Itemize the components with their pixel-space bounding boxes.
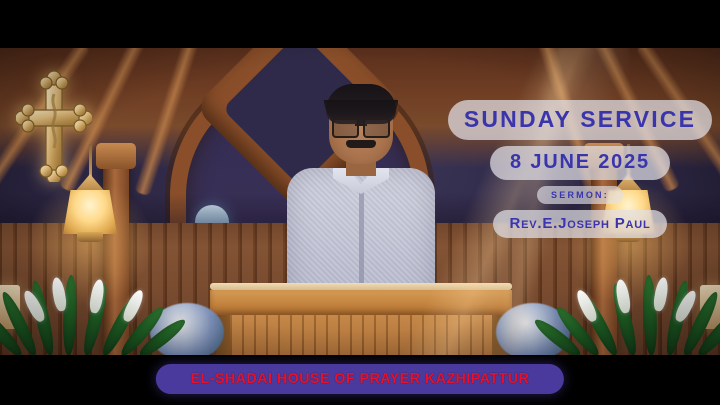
glasses-lens — [332, 118, 359, 138]
peace-lily-plant — [560, 269, 710, 355]
pulpit — [222, 283, 500, 355]
lamp-cord — [89, 144, 92, 178]
letterbox-top — [0, 0, 720, 48]
lamp-base — [77, 232, 103, 242]
service-date: 8 JUNE 2025 — [490, 146, 670, 180]
glasses-icon — [332, 118, 390, 134]
pulpit-rail — [210, 290, 512, 315]
pulpit-body — [230, 315, 492, 355]
video-frame: SUNDAY SERVICE 8 JUNE 2025 SERMON: Rev.E… — [0, 0, 720, 405]
service-title: SUNDAY SERVICE — [448, 100, 712, 140]
pilaster-capital — [96, 143, 136, 169]
letterbox-bottom: EL-SHADAI HOUSE OF PRAYER KAZHIPATTUR — [0, 355, 720, 405]
peace-lily-plant — [10, 269, 160, 355]
glasses-lens — [363, 118, 390, 138]
video-content: SUNDAY SERVICE 8 JUNE 2025 SERMON: Rev.E… — [0, 48, 720, 355]
preacher-mustache — [346, 140, 376, 148]
lily-flower — [652, 276, 670, 312]
church-name-banner: EL-SHADAI HOUSE OF PRAYER KAZHIPATTUR — [156, 364, 564, 394]
pulpit-top — [210, 283, 512, 290]
sermon-label: SERMON: — [537, 186, 623, 204]
church-name-text: EL-SHADAI HOUSE OF PRAYER KAZHIPATTUR — [191, 370, 530, 387]
lily-flower — [50, 276, 68, 312]
lamp-body — [63, 190, 117, 234]
service-info-overlay: SUNDAY SERVICE 8 JUNE 2025 SERMON: Rev.E… — [454, 100, 706, 238]
speaker-name: Rev.E.Joseph Paul — [493, 210, 666, 238]
cross-icon — [16, 70, 92, 182]
plant-leaf — [62, 275, 78, 355]
